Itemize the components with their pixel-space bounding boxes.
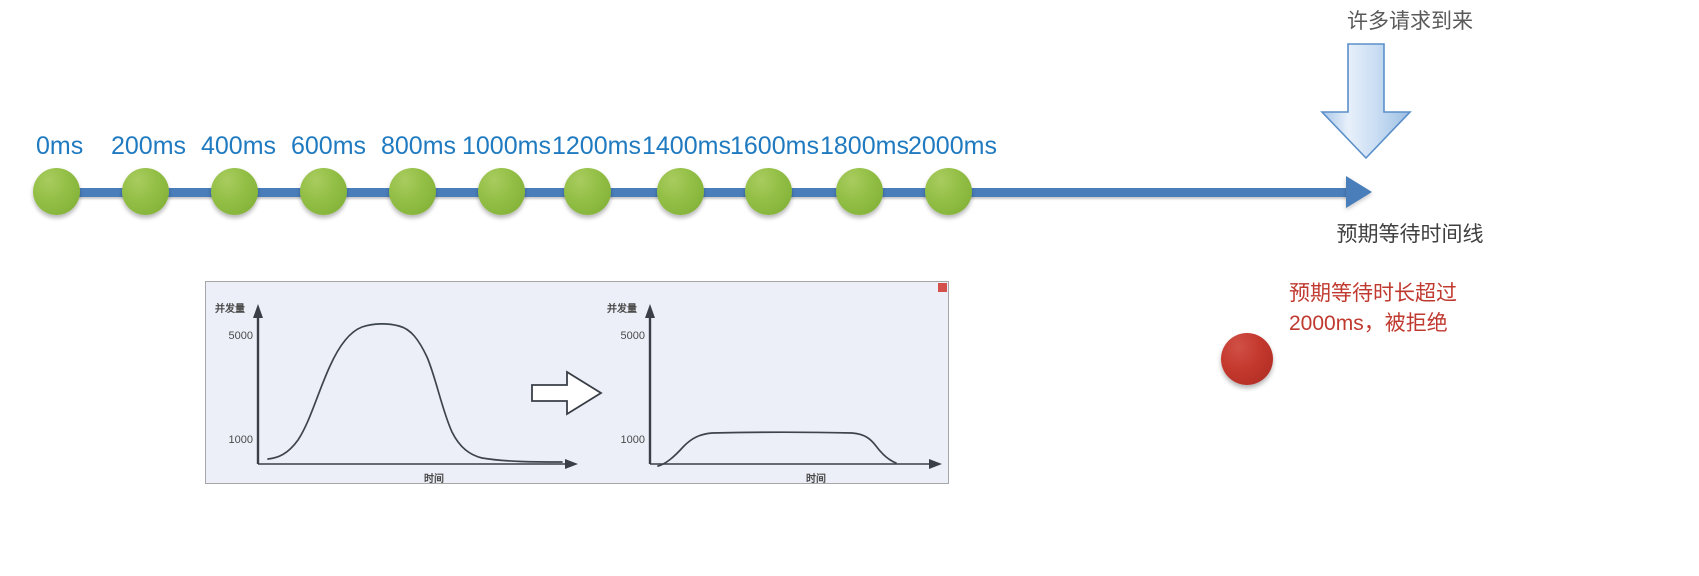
timeline-dot-10[interactable]: [925, 168, 972, 215]
timeline-tick-label-9: 1800ms: [820, 134, 909, 159]
timeline-dot-9[interactable]: [836, 168, 883, 215]
timeline-tick-label-8: 1600ms: [730, 134, 819, 159]
timeline-caption: 预期等待时间线: [1260, 218, 1560, 248]
timeline-dot-7[interactable]: [657, 168, 704, 215]
arrival-label: 许多请求到来: [1260, 5, 1560, 35]
timeline-dot-4[interactable]: [389, 168, 436, 215]
reject-threshold-value: 2000ms: [1289, 312, 1364, 335]
timeline-tick-label-5: 1000ms: [462, 134, 551, 159]
timeline-tick-label-10: 2000ms: [908, 134, 997, 159]
timeline-tick-label-2: 400ms: [201, 134, 276, 159]
timeline-dot-1[interactable]: [122, 168, 169, 215]
timeline-dot-6[interactable]: [564, 168, 611, 215]
timeline-dot-5[interactable]: [478, 168, 525, 215]
timeline-tick-label-0: 0ms: [36, 134, 83, 159]
timeline-dot-2[interactable]: [211, 168, 258, 215]
slide-canvas: 0ms 200ms 400ms 600ms 800ms 1000ms 1200m…: [0, 0, 1699, 576]
expected-wait-timeline: 0ms 200ms 400ms 600ms 800ms 1000ms 1200m…: [0, 0, 1420, 240]
reject-note: 预期等待时长超过 2000ms，被拒绝: [1289, 278, 1619, 339]
chart-after-plot: [578, 282, 950, 485]
reject-note-line-2: 2000ms，被拒绝: [1289, 308, 1619, 339]
timeline-tick-label-7: 1400ms: [642, 134, 731, 159]
chart-before-plot: [206, 282, 578, 485]
reject-note-line-1: 预期等待时长超过: [1289, 278, 1619, 308]
arrival-callout: 许多请求到来 预期等待时间线: [1260, 0, 1560, 250]
rejected-request-dot[interactable]: [1221, 333, 1273, 385]
chart-after-shaping: 并发量 5000 1000 时间: [578, 282, 950, 485]
chart-before-shaping: 并发量 5000 1000 时间: [206, 282, 578, 485]
timeline-dot-3[interactable]: [300, 168, 347, 215]
concurrency-chart-panel: 并发量 5000 1000 时间 并发量 5000 1000 时: [205, 281, 949, 484]
timeline-dot-0[interactable]: [33, 168, 80, 215]
timeline-tick-label-6: 1200ms: [552, 134, 641, 159]
down-arrow-icon: [1306, 42, 1426, 160]
timeline-tick-label-3: 600ms: [291, 134, 366, 159]
timeline-tick-label-1: 200ms: [111, 134, 186, 159]
reject-note-suffix: ，被拒绝: [1364, 311, 1448, 335]
timeline-dot-8[interactable]: [745, 168, 792, 215]
timeline-tick-label-4: 800ms: [381, 134, 456, 159]
